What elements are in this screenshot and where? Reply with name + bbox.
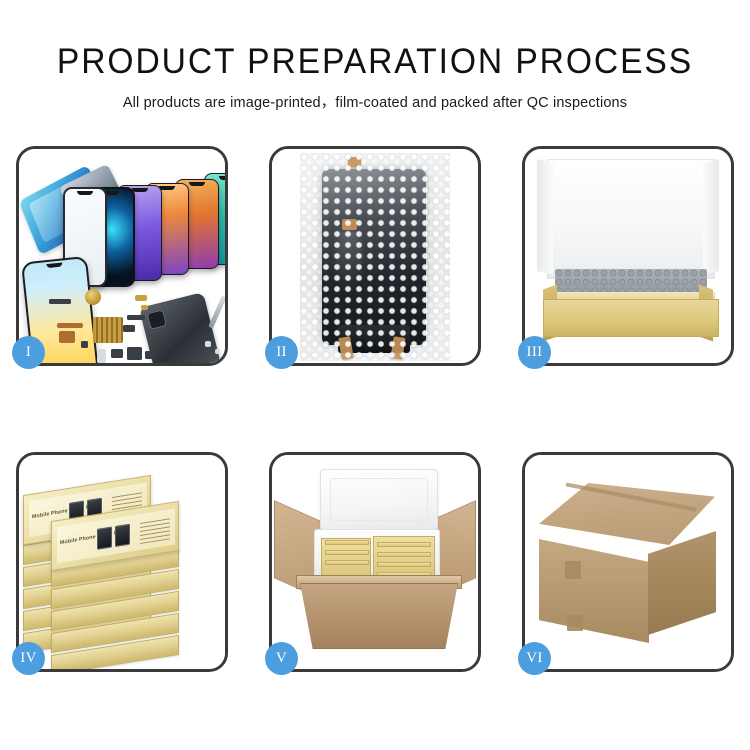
small-part-icon	[123, 325, 135, 332]
panel-foam-carton[interactable]: V	[269, 452, 481, 672]
screwdriver-icon	[208, 295, 225, 328]
page-title: PRODUCT PREPARATION PROCESS	[15, 42, 735, 82]
yellow-box-edge	[377, 562, 431, 567]
parts-collage-photo	[19, 149, 225, 363]
panel-stacked-boxes[interactable]: Mobile Phone Spare Parts Mobile Phone Sp…	[16, 452, 228, 672]
carton-top-face	[539, 483, 715, 545]
phone-front-image	[115, 524, 130, 547]
screw-icon	[215, 349, 220, 354]
screw-icon	[205, 341, 211, 347]
screw-icon	[81, 341, 88, 348]
bubble-wrap-bag	[300, 153, 450, 361]
panel-badge-5: V	[265, 642, 298, 675]
carton-flap-tab	[567, 615, 583, 631]
foam-box-lid	[320, 469, 438, 531]
carton-front-face	[539, 539, 649, 643]
panel-sealed-carton[interactable]: VI	[522, 452, 734, 672]
connector-strip-icon	[49, 299, 71, 304]
speaker-coil-icon	[85, 289, 101, 305]
foam-carton-photo	[272, 455, 478, 669]
box-lid-left-flap	[537, 159, 553, 275]
notch-icon	[189, 182, 205, 186]
process-panel-grid: I II III	[16, 146, 734, 672]
page-header: PRODUCT PREPARATION PROCESS All products…	[0, 0, 750, 113]
panel-badge-6: VI	[518, 642, 551, 675]
tape-piece-icon	[390, 336, 405, 360]
wrapped-screen	[322, 169, 426, 345]
panel-badge-2: II	[265, 336, 298, 369]
yellow-box-edge	[377, 542, 431, 547]
bubble-wrap-photo	[272, 149, 478, 363]
button-part-icon	[145, 351, 153, 359]
panel-badge-3: III	[518, 336, 551, 369]
sim-tray-icon	[97, 349, 106, 363]
panel-inner-box[interactable]: III	[522, 146, 734, 366]
gold-contact-icon	[141, 305, 148, 310]
label-spec-lines	[140, 517, 170, 544]
box-front-panel	[543, 299, 719, 337]
flex-cable-icon	[59, 331, 75, 343]
yellow-box-edge	[325, 550, 369, 555]
sealed-carton-photo	[525, 455, 731, 669]
notch-icon	[46, 262, 62, 268]
panel-bubble-wrap[interactable]: II	[269, 146, 481, 366]
inner-box-photo	[525, 149, 731, 363]
yellow-box-edge	[377, 552, 431, 557]
phone-front-image	[97, 526, 112, 549]
carton-body	[300, 583, 458, 649]
panel-badge-4: IV	[12, 642, 45, 675]
carton-side-face	[648, 531, 716, 635]
flex-cable-icon	[57, 323, 83, 328]
page-subtitle: All products are image-printed，film-coat…	[0, 93, 750, 113]
vibrator-module-icon	[127, 347, 142, 360]
notch-icon	[219, 176, 225, 180]
notch-icon	[77, 191, 93, 195]
box-lid-right-flap	[703, 159, 719, 275]
carton-flap-tab	[565, 561, 581, 579]
yellow-box-edge	[325, 560, 369, 565]
stacked-boxes-photo: Mobile Phone Spare Parts Mobile Phone Sp…	[19, 455, 225, 669]
flex-connector-icon	[127, 315, 145, 320]
panel-badge-1: I	[12, 336, 45, 369]
gold-contact-icon	[135, 295, 147, 301]
box-inner-lid	[547, 159, 715, 279]
camera-module-icon	[111, 349, 123, 358]
ic-grid-icon	[93, 317, 123, 343]
yellow-box-edge	[325, 540, 369, 545]
tape-piece-icon	[348, 157, 361, 167]
panel-parts-collage[interactable]: I	[16, 146, 228, 366]
tape-piece-icon	[342, 219, 357, 230]
